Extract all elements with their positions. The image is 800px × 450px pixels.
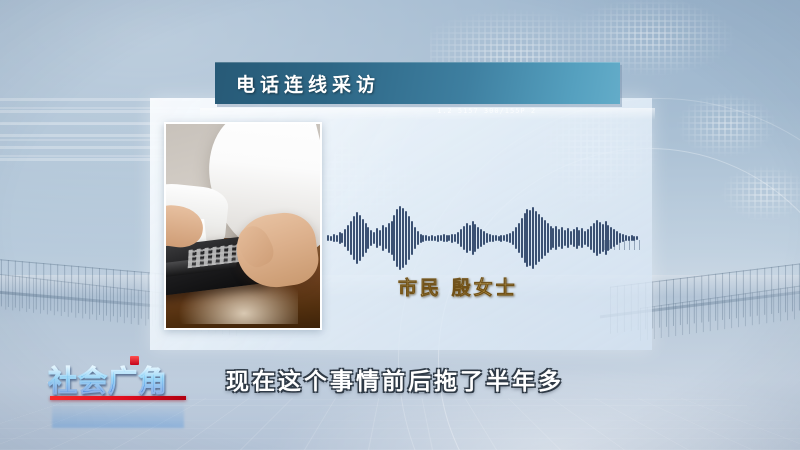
waveform-bar	[498, 236, 500, 241]
waveform-bar	[515, 227, 517, 249]
telephone-photo	[166, 124, 320, 328]
waveform-bar	[590, 226, 592, 250]
waveform-bar	[524, 213, 526, 263]
logo-red-accent-icon	[130, 356, 139, 365]
waveform-bar	[370, 230, 372, 246]
waveform-bar	[402, 208, 404, 268]
waveform-bar	[359, 215, 361, 261]
waveform-bar	[443, 234, 445, 242]
waveform-bar	[486, 233, 488, 243]
waveform-bar	[347, 225, 349, 251]
waveform-bar	[578, 230, 580, 246]
waveform-bar	[420, 234, 422, 243]
waveform-bar	[376, 228, 378, 248]
waveform-bar	[570, 231, 572, 245]
waveform-bar	[474, 224, 476, 252]
waveform-bar	[605, 221, 607, 255]
waveform-bar	[379, 230, 381, 246]
logo-reflection	[52, 402, 184, 428]
waveform-bar	[466, 223, 468, 253]
waveform-bar	[431, 235, 433, 241]
waveform-bar	[341, 233, 343, 243]
waveform-bar	[535, 211, 537, 265]
waveform-bar	[477, 227, 479, 249]
waveform-bar	[434, 236, 436, 241]
waveform-bar	[538, 214, 540, 262]
waveform-bar	[454, 234, 456, 242]
waveform-bar	[599, 222, 601, 254]
banner-underline-glow	[200, 108, 655, 120]
waveform-bar	[512, 231, 514, 245]
waveform-bar	[518, 223, 520, 253]
waveform-bar	[408, 216, 410, 260]
broadcast-screen: 1.2 5157 300/155P 2 电话连线采访 市民 殷女士 现在这个事情…	[0, 0, 800, 450]
subtitle-text: 现在这个事情前后拖了半年多	[226, 362, 564, 396]
waveform-bar	[544, 220, 546, 256]
waveform-bar	[625, 235, 627, 241]
waveform-bar	[350, 221, 352, 255]
waveform-bar	[353, 216, 355, 260]
waveform-bar	[550, 226, 552, 250]
waveform-bar	[503, 235, 505, 241]
waveform-bar	[388, 223, 390, 253]
photo-frame	[164, 122, 322, 330]
waveform-bar	[558, 229, 560, 247]
waveform-bar	[495, 235, 497, 241]
waveform-bar	[460, 229, 462, 247]
waveform-bar	[576, 227, 578, 249]
waveform-bar	[385, 227, 387, 249]
waveform-bar	[610, 227, 612, 249]
waveform-bar	[356, 212, 358, 264]
speaker-caption: 市民 殷女士	[398, 273, 518, 300]
waveform-bar	[405, 211, 407, 265]
waveform-bar	[367, 227, 369, 249]
waveform-bar	[636, 236, 638, 240]
waveform-bar	[382, 225, 384, 251]
waveform-bar	[561, 227, 563, 249]
waveform-bar	[373, 232, 375, 244]
waveform-bar	[428, 236, 430, 241]
waveform-bar	[532, 207, 534, 269]
waveform-bar	[393, 215, 395, 261]
waveform-bar	[607, 225, 609, 251]
waveform-bar	[480, 229, 482, 247]
waveform-bar	[422, 235, 424, 242]
waveform-bar	[552, 228, 554, 248]
waveform-bar	[584, 231, 586, 245]
waveform-bar	[541, 217, 543, 259]
waveform-bar	[521, 218, 523, 258]
waveform-bar	[446, 235, 448, 242]
waveform-bar	[472, 221, 474, 255]
waveform-bar	[425, 235, 427, 241]
waveform-bar	[564, 230, 566, 246]
waveform-bar	[399, 206, 401, 270]
waveform-bar	[547, 223, 549, 253]
waveform-bar	[581, 228, 583, 248]
waveform-bar	[526, 209, 528, 267]
waveform-bar	[587, 229, 589, 247]
waveform-bar	[573, 229, 575, 247]
audio-waveform	[327, 205, 639, 271]
waveform-bar	[327, 235, 329, 241]
waveform-bar	[593, 223, 595, 253]
waveform-bar	[448, 235, 450, 241]
title-banner-text: 电话连线采访	[215, 70, 380, 97]
waveform-bar	[414, 227, 416, 249]
program-logo-text: 社会广角	[48, 358, 188, 400]
waveform-bar	[567, 228, 569, 248]
waveform-bar	[500, 235, 502, 242]
waveform-bar	[451, 234, 453, 243]
waveform-bar	[489, 234, 491, 242]
waveform-bar	[365, 223, 367, 253]
waveform-bar	[333, 234, 335, 242]
waveform-bar	[339, 232, 341, 244]
waveform-bar	[437, 235, 439, 242]
waveform-bar	[396, 209, 398, 267]
waveform-bar	[631, 235, 633, 241]
waveform-bar	[622, 234, 624, 242]
waveform-bar	[391, 221, 393, 255]
waveform-bar	[596, 220, 598, 256]
waveform-bar	[628, 236, 630, 241]
waveform-bar	[616, 231, 618, 245]
waveform-bar	[492, 235, 494, 242]
waveform-bar	[555, 226, 557, 250]
waveform-bar	[483, 231, 485, 245]
waveform-bar	[457, 232, 459, 244]
waveform-bar	[330, 236, 332, 241]
waveform-bar	[336, 235, 338, 242]
program-logo: 社会广角	[48, 358, 188, 408]
waveform-bar	[440, 235, 442, 241]
waveform-bar	[509, 233, 511, 243]
waveform-bar	[411, 221, 413, 255]
waveform-bar	[344, 229, 346, 247]
waveform-bar	[463, 226, 465, 250]
waveform-bar	[529, 210, 531, 266]
waveform-bar	[619, 233, 621, 243]
waveform-bar	[633, 236, 635, 241]
waveform-bar	[602, 224, 604, 252]
logo-underline-bar	[50, 396, 186, 400]
waveform-bar	[506, 234, 508, 242]
waveform-bar	[362, 219, 364, 257]
banner-code-text: 1.2 5157 300/155P 2	[437, 107, 536, 115]
title-banner: 电话连线采访	[215, 62, 620, 104]
waveform-bar	[613, 229, 615, 247]
waveform-bar	[417, 231, 419, 245]
waveform-bar	[469, 225, 471, 251]
